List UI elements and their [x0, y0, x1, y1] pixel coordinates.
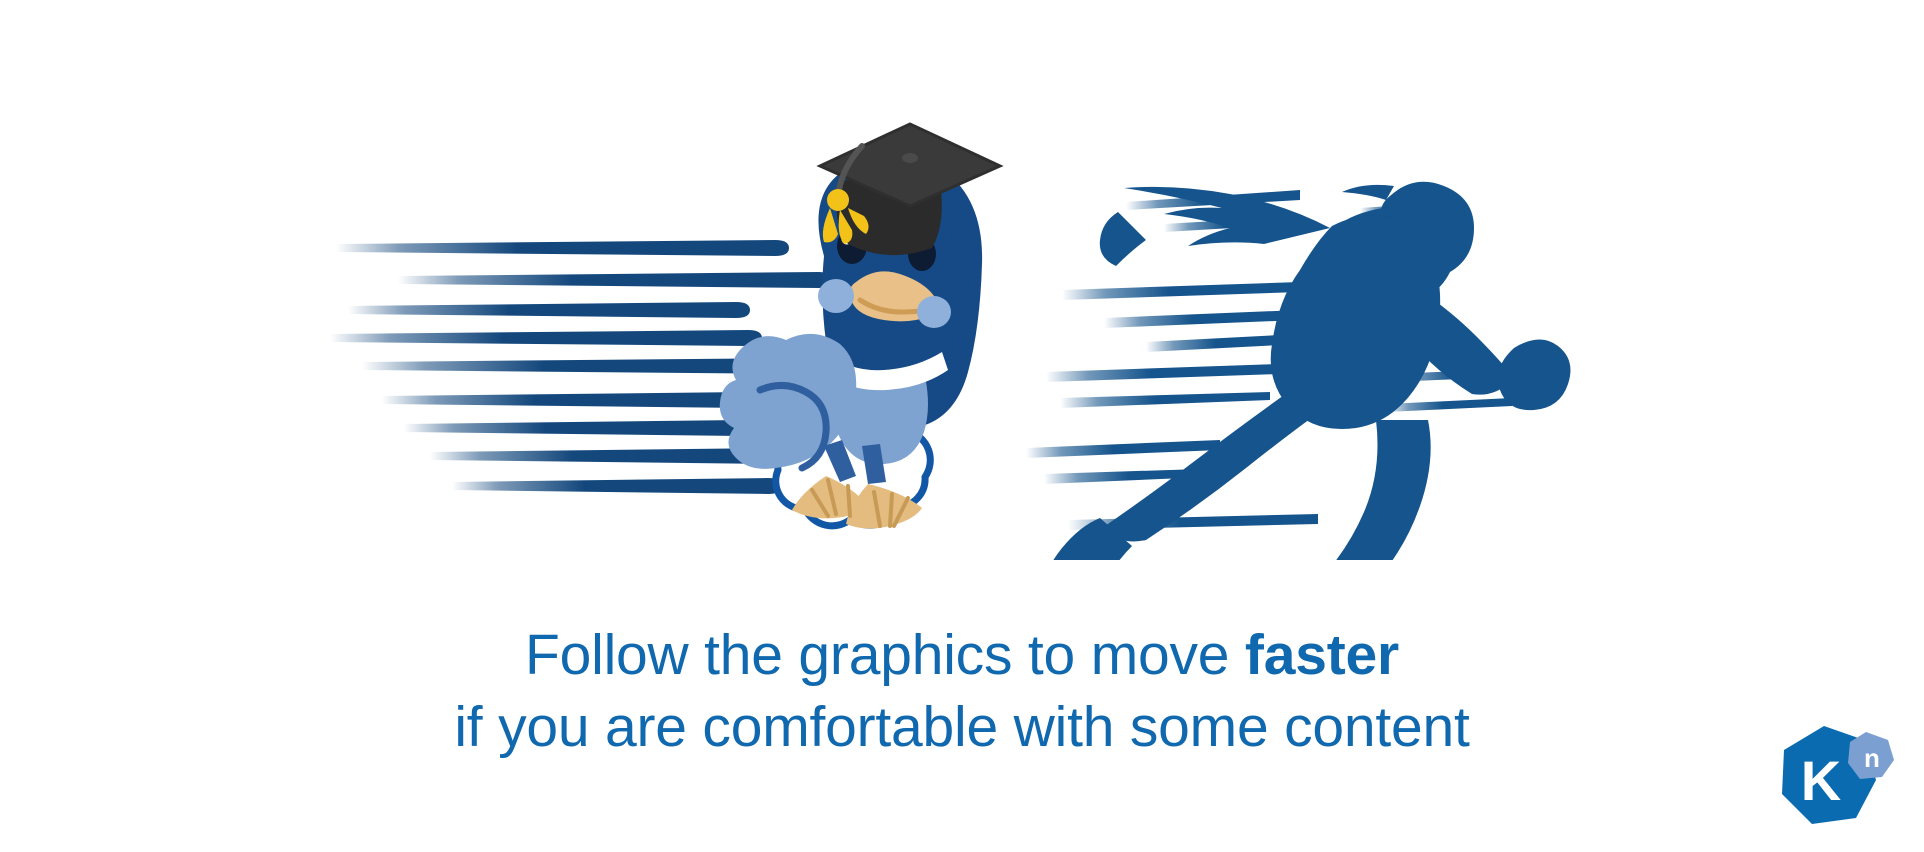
graduate-bird-mascot — [720, 124, 1000, 529]
caption-block: Follow the graphics to move faster if yo… — [0, 620, 1924, 764]
illustration-graphic — [0, 0, 1924, 560]
slide-canvas: Follow the graphics to move faster if yo… — [0, 0, 1924, 852]
caption-emphasis-faster: faster — [1245, 623, 1399, 687]
caption-line-2: if you are comfortable with some content — [0, 692, 1924, 764]
brand-logo[interactable]: K n — [1772, 722, 1902, 842]
logo-letter-n: n — [1864, 743, 1880, 773]
caption-line-1-prefix: Follow the graphics to move — [525, 623, 1245, 687]
caption-line-1: Follow the graphics to move faster — [0, 620, 1924, 692]
logo-letter-k: K — [1801, 749, 1841, 812]
